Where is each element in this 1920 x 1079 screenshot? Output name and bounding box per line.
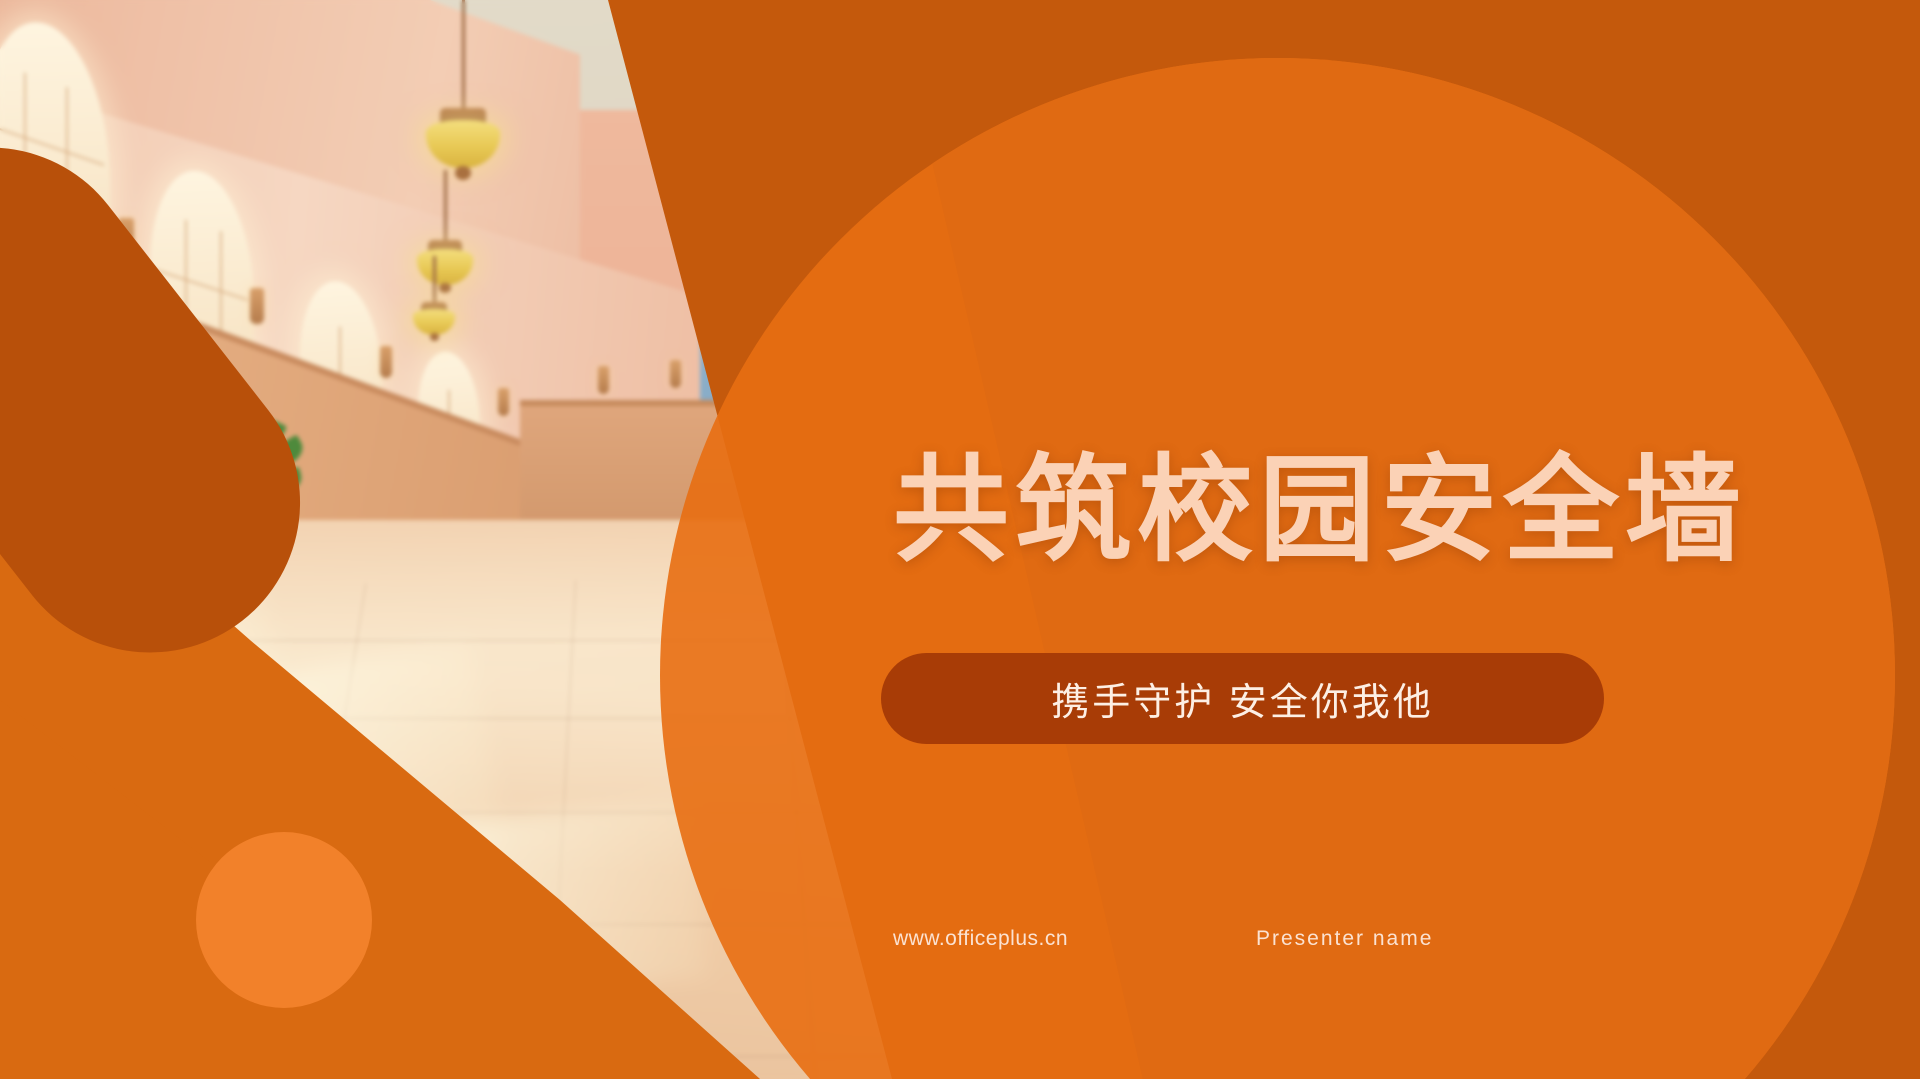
presenter-name: Presenter name [1256,927,1433,951]
website-url[interactable]: www.officeplus.cn [893,927,1068,951]
presentation-slide: 共筑校园安全墙 携手守护 安全你我他 www.officeplus.cn Pre… [0,0,1920,1079]
subtitle-pill: 携手守护 安全你我他 [881,653,1604,744]
slide-subtitle: 携手守护 安全你我他 [1051,671,1434,726]
small-orange-circle-accent [196,832,372,1008]
slide-title: 共筑校园安全墙 [893,452,1747,568]
slide-footer: www.officeplus.cn Presenter name [893,927,1593,961]
